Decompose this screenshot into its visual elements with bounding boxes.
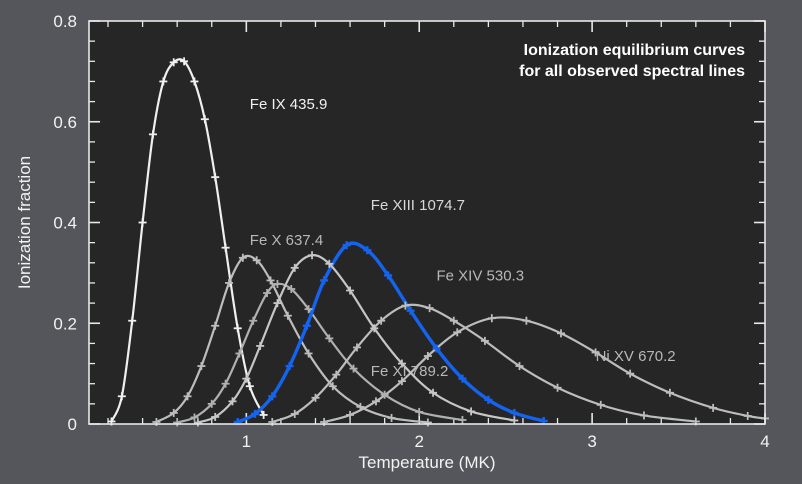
ionization-equilibrium-plot: Fe IX 435.9Fe X 637.4Fe XI 789.2Fe XIII … bbox=[0, 0, 802, 484]
y-tick-label: 0 bbox=[68, 415, 77, 434]
curve-label-fe-x-637-4: Fe X 637.4 bbox=[250, 232, 323, 249]
y-tick-label: 0.8 bbox=[53, 12, 77, 31]
x-axis-label: Temperature (MK) bbox=[359, 453, 496, 472]
curve-label-fe-xi-789-2: Fe XI 789.2 bbox=[371, 363, 449, 380]
x-tick-label: 3 bbox=[587, 432, 596, 451]
x-tick-label: 2 bbox=[414, 432, 423, 451]
y-tick-label: 0.2 bbox=[53, 314, 77, 333]
x-tick-label: 4 bbox=[760, 432, 769, 451]
x-tick-label: 1 bbox=[242, 432, 251, 451]
y-tick-label: 0.4 bbox=[53, 214, 77, 233]
curve-label-fe-xiii-1074-7: Fe XIII 1074.7 bbox=[371, 197, 465, 214]
y-axis-label: Ionization fraction bbox=[15, 156, 34, 289]
y-tick-label: 0.6 bbox=[53, 113, 77, 132]
curve-label-fe-xiv-530-3: Fe XIV 530.3 bbox=[437, 267, 525, 284]
chart-title-line1: Ionization equilibrium curves bbox=[524, 42, 745, 59]
curve-label-fe-ix-435-9: Fe IX 435.9 bbox=[250, 96, 328, 113]
chart-figure: Fe IX 435.9Fe X 637.4Fe XI 789.2Fe XIII … bbox=[0, 0, 802, 484]
curve-label-ni-xv-670-2: Ni XV 670.2 bbox=[596, 348, 676, 365]
chart-title-line2: for all observed spectral lines bbox=[519, 63, 745, 80]
